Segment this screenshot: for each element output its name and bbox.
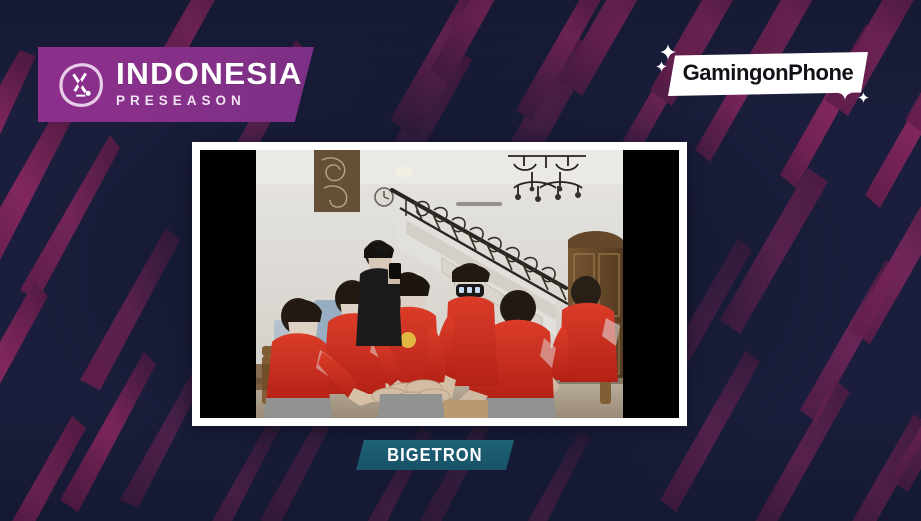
brand-logo[interactable]: GamingonPhone <box>656 44 872 108</box>
sparkle-bottom-right-small-icon <box>858 92 869 103</box>
video-photo-frame <box>192 142 687 426</box>
indonesia-preseason-emblem-icon <box>56 60 106 110</box>
sparkle-bottom-right-large-icon <box>838 86 852 100</box>
event-title: INDONESIA <box>116 59 303 89</box>
video-photo-content <box>256 150 623 418</box>
sparkle-top-left-large-icon <box>660 44 676 60</box>
brand-logo-text: GamingonPhone <box>683 60 854 86</box>
event-banner: INDONESIA PRESEASON <box>38 47 314 122</box>
team-name-label: BIGETRON <box>356 440 514 470</box>
event-subtitle: PRESEASON <box>116 94 299 108</box>
video-letterbox <box>200 150 679 418</box>
team-name-text: BIGETRON <box>387 445 483 466</box>
broadcast-overlay-screen: INDONESIA PRESEASON GamingonPhone <box>0 0 921 521</box>
sparkle-top-left-small-icon <box>656 61 667 72</box>
